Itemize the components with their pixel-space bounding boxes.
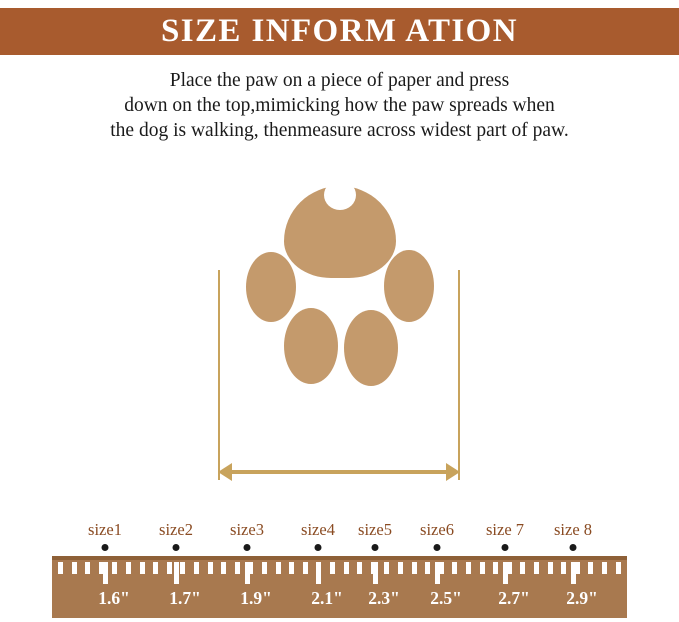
ruler-tick bbox=[548, 562, 553, 574]
ruler-tick bbox=[72, 562, 77, 574]
size-value-7: 2.7" bbox=[498, 588, 530, 609]
instructions-line-2: down on the top,mimicking how the paw sp… bbox=[0, 93, 679, 118]
ruler-tick bbox=[330, 562, 335, 574]
instructions-line-1: Place the paw on a piece of paper and pr… bbox=[0, 68, 679, 93]
ruler-tick bbox=[384, 562, 389, 574]
ruler-tick bbox=[167, 562, 172, 574]
size-label-7: size 7 bbox=[486, 520, 524, 540]
ruler-tick bbox=[126, 562, 131, 574]
ruler-tick bbox=[452, 562, 457, 574]
size-value-1: 1.6" bbox=[98, 588, 130, 609]
ruler-major-tick-3 bbox=[245, 562, 250, 584]
ruler-tick bbox=[520, 562, 525, 574]
ruler-tick bbox=[534, 562, 539, 574]
ruler-bar: 1.6"1.7"1.9"2.1"2.3"2.5"2.7"2.9" bbox=[52, 556, 627, 618]
ruler-major-tick-2 bbox=[174, 562, 179, 584]
ruler-major-tick-1 bbox=[103, 562, 108, 584]
size-information-banner: SIZE INFORM ATION bbox=[0, 8, 679, 55]
ruler-tick bbox=[289, 562, 294, 574]
size-marker-dot-5 bbox=[372, 544, 379, 551]
instructions-line-3: the dog is walking, thenmeasure across w… bbox=[0, 118, 679, 143]
size-value-2: 1.7" bbox=[169, 588, 201, 609]
size-label-3: size3 bbox=[230, 520, 264, 540]
size-label-1: size1 bbox=[88, 520, 122, 540]
ruler-tick bbox=[140, 562, 145, 574]
instructions-text: Place the paw on a piece of paper and pr… bbox=[0, 68, 679, 143]
measure-guide-right-line bbox=[458, 270, 460, 480]
size-marker-dot-7 bbox=[502, 544, 509, 551]
size-label-5: size5 bbox=[358, 520, 392, 540]
ruler-tick bbox=[85, 562, 90, 574]
ruler-major-tick-5 bbox=[373, 562, 378, 584]
size-marker-dot-2 bbox=[173, 544, 180, 551]
ruler-tick bbox=[398, 562, 403, 574]
size-value-5: 2.3" bbox=[368, 588, 400, 609]
ruler-tick bbox=[235, 562, 240, 574]
size-value-8: 2.9" bbox=[566, 588, 598, 609]
width-measure-arrow bbox=[218, 460, 460, 484]
ruler-tick bbox=[303, 562, 308, 574]
ruler-tick bbox=[493, 562, 498, 574]
size-label-4: size4 bbox=[301, 520, 335, 540]
ruler-tick bbox=[112, 562, 117, 574]
arrow-right-icon bbox=[446, 463, 460, 481]
size-label-6: size6 bbox=[420, 520, 454, 540]
measure-guide-left-line bbox=[218, 270, 220, 480]
paw-diagram bbox=[0, 160, 679, 500]
ruler-tick bbox=[262, 562, 267, 574]
ruler-tick bbox=[344, 562, 349, 574]
ruler-major-tick-6 bbox=[435, 562, 440, 584]
size-value-3: 1.9" bbox=[240, 588, 272, 609]
size-ruler: size1size2size3size4size5size6size 7size… bbox=[0, 520, 679, 622]
paw-toe-3 bbox=[344, 310, 398, 386]
ruler-tick bbox=[180, 562, 185, 574]
paw-toe-4 bbox=[384, 250, 434, 322]
size-marker-dot-8 bbox=[570, 544, 577, 551]
arrow-shaft bbox=[228, 470, 450, 474]
ruler-tick bbox=[602, 562, 607, 574]
size-marker-dot-4 bbox=[315, 544, 322, 551]
ruler-tick bbox=[588, 562, 593, 574]
ruler-tick bbox=[616, 562, 621, 574]
ruler-major-tick-7 bbox=[503, 562, 508, 584]
paw-toe-2 bbox=[284, 308, 338, 384]
paw-toe-1 bbox=[246, 252, 296, 322]
size-value-4: 2.1" bbox=[311, 588, 343, 609]
size-marker-dot-3 bbox=[244, 544, 251, 551]
size-label-row: size1size2size3size4size5size6size 7size… bbox=[0, 520, 679, 542]
paw-main-pad-notch bbox=[324, 180, 356, 210]
ruler-tick bbox=[480, 562, 485, 574]
ruler-major-tick-8 bbox=[571, 562, 576, 584]
size-marker-dot-1 bbox=[102, 544, 109, 551]
size-value-6: 2.5" bbox=[430, 588, 462, 609]
size-marker-dot-6 bbox=[434, 544, 441, 551]
ruler-tick bbox=[412, 562, 417, 574]
ruler-tick bbox=[221, 562, 226, 574]
ruler-tick bbox=[561, 562, 566, 574]
ruler-tick bbox=[276, 562, 281, 574]
size-label-2: size2 bbox=[159, 520, 193, 540]
ruler-tick bbox=[357, 562, 362, 574]
ruler-tick bbox=[58, 562, 63, 574]
ruler-tick bbox=[194, 562, 199, 574]
ruler-tick bbox=[208, 562, 213, 574]
ruler-major-tick-4 bbox=[316, 562, 321, 584]
size-label-8: size 8 bbox=[554, 520, 592, 540]
page-title: SIZE INFORM ATION bbox=[161, 15, 518, 48]
ruler-tick bbox=[153, 562, 158, 574]
paw-icon bbox=[232, 172, 447, 427]
ruler-top-strip bbox=[52, 556, 627, 560]
ruler-tick bbox=[425, 562, 430, 574]
ruler-tick bbox=[466, 562, 471, 574]
